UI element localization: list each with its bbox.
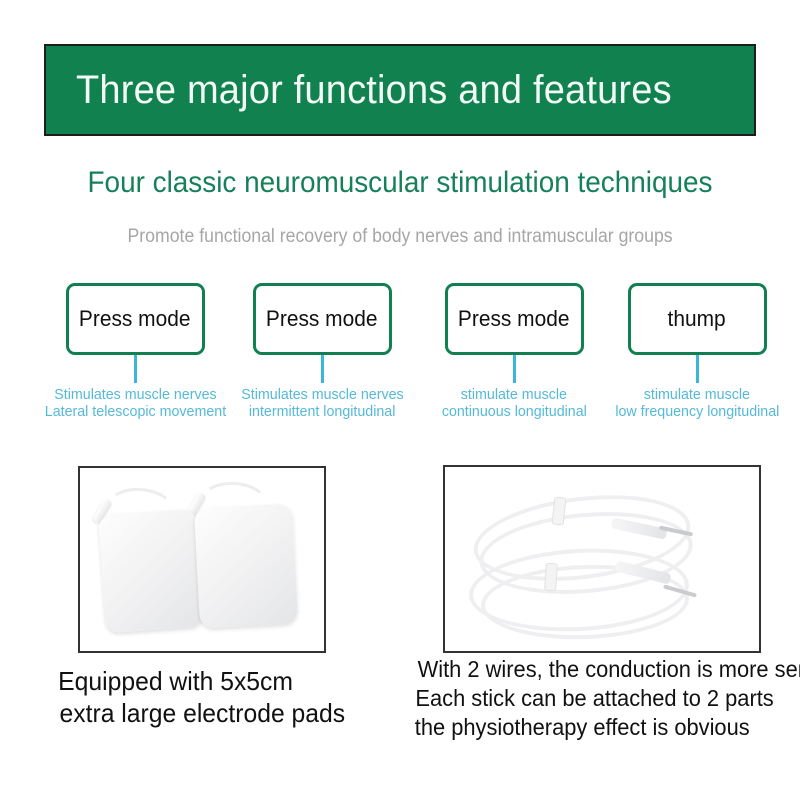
mode-item-1: Press mode Stimulates muscle nerves Late…: [40, 283, 230, 421]
connector-line-1: [134, 355, 137, 383]
subtitle-text: Four classic neuromuscular stimulation t…: [88, 166, 713, 200]
mode-box-2[interactable]: Press mode: [253, 283, 392, 355]
header-banner: Three major functions and features: [44, 44, 756, 136]
electrode-pad: [194, 504, 298, 629]
mode-item-4: thump stimulate muscle low frequency lon…: [602, 283, 792, 421]
mode-caption-3: stimulate muscle continuous longitudinal: [438, 387, 591, 421]
subtitle: Four classic neuromuscular stimulation t…: [0, 166, 800, 200]
electrode-pads-photo: [78, 466, 326, 653]
mode-caption-1: Stimulates muscle nerves Lateral telesco…: [40, 387, 231, 421]
right-panel-caption: With 2 wires, the conduction is more sen…: [406, 655, 800, 742]
left-panel-caption: Equipped with 5x5cm extra large electrod…: [52, 666, 353, 729]
mode-box-label-3: Press mode: [455, 306, 572, 332]
mode-item-2: Press mode Stimulates muscle nerves inte…: [227, 283, 417, 421]
mode-box-3[interactable]: Press mode: [445, 283, 584, 355]
connector-line-2: [321, 355, 324, 383]
mode-caption-2: Stimulates muscle nerves intermittent lo…: [237, 387, 408, 421]
connector-line-4: [696, 355, 699, 383]
electrode-pad: [98, 509, 204, 634]
mode-list: Press mode Stimulates muscle nerves Late…: [22, 283, 782, 443]
mode-box-label-1: Press mode: [76, 306, 193, 332]
tagline: Promote functional recovery of body nerv…: [0, 226, 800, 248]
wire-tie: [544, 563, 558, 592]
mode-box-1[interactable]: Press mode: [66, 283, 205, 355]
mode-box-label-2: Press mode: [263, 306, 380, 332]
page-title-text: Three major functions and features: [76, 68, 672, 112]
mode-item-3: Press mode stimulate muscle continuous l…: [419, 283, 609, 421]
connector-line-3: [513, 355, 516, 383]
tagline-text: Promote functional recovery of body nerv…: [127, 226, 672, 248]
page-title: Three major functions and features: [76, 68, 672, 113]
mode-box-4[interactable]: thump: [628, 283, 767, 355]
mode-caption-4: stimulate muscle low frequency longitudi…: [611, 387, 784, 421]
lead-wires-photo: [443, 465, 761, 653]
mode-box-label-4: thump: [666, 306, 727, 332]
